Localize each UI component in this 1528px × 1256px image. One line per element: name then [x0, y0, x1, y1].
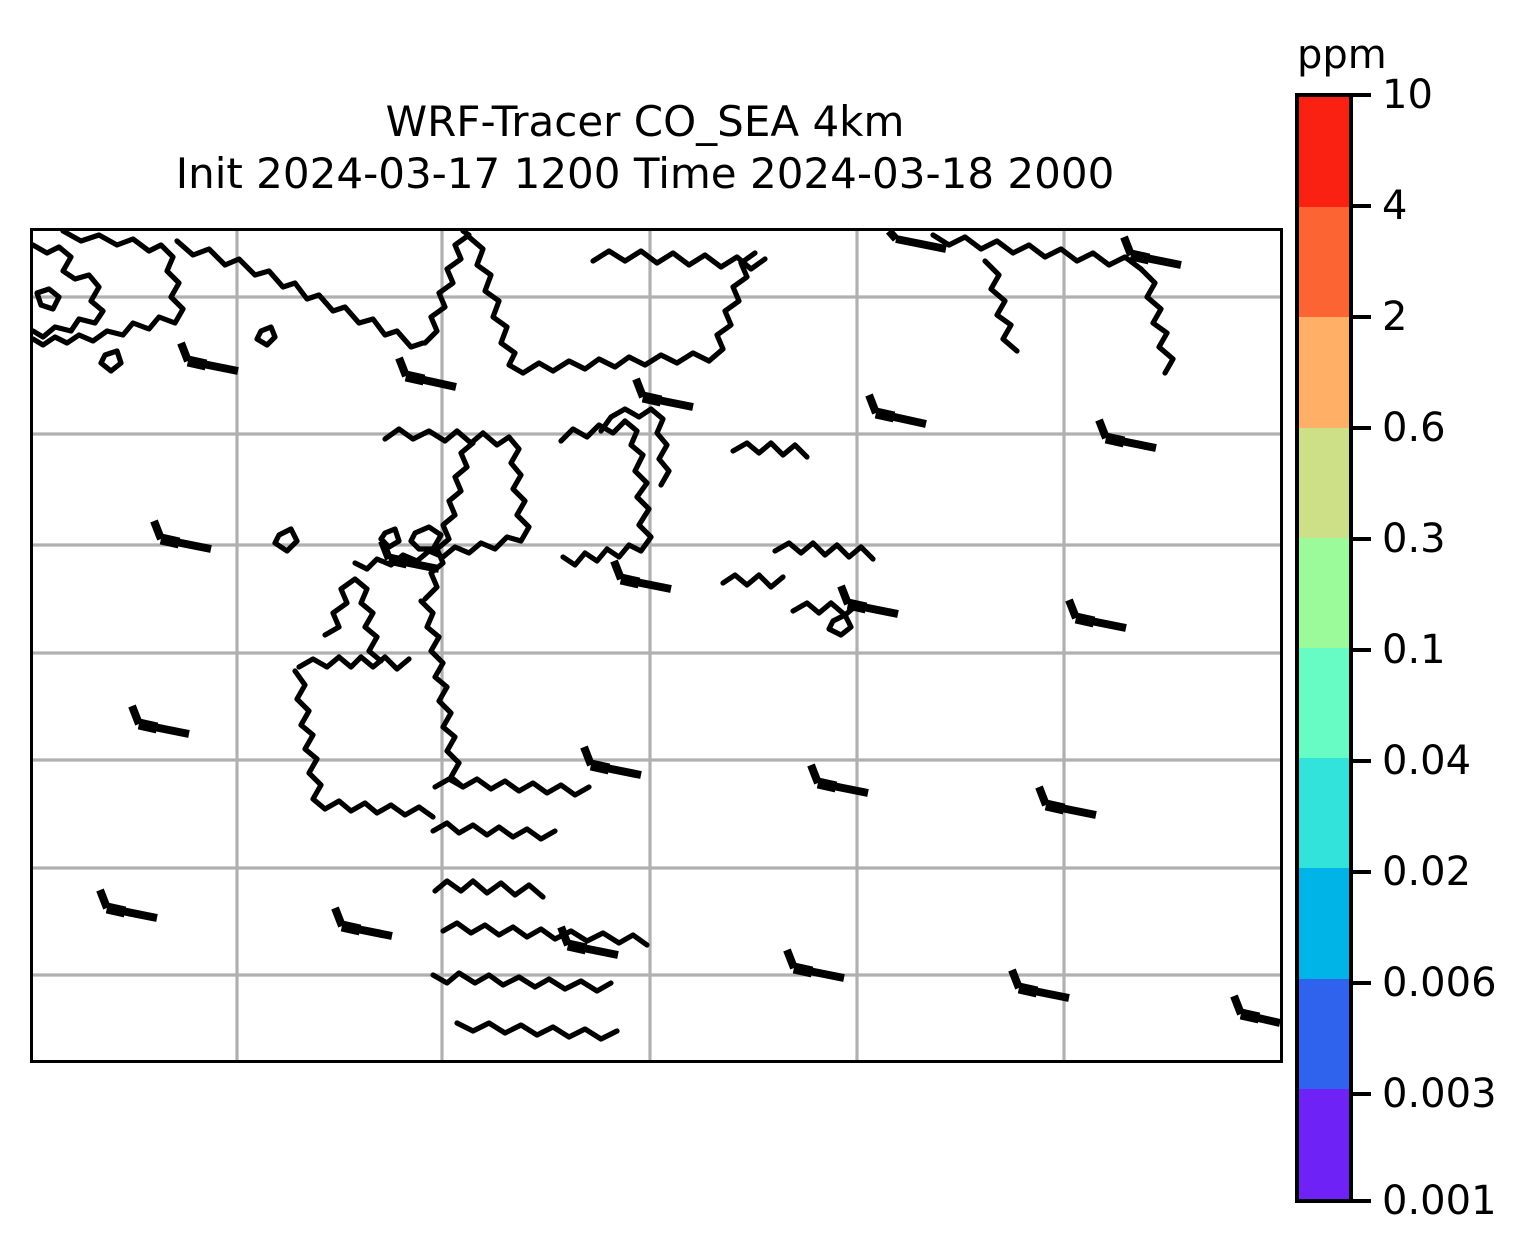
colorbar-tick — [1353, 759, 1371, 763]
colorbar-band — [1299, 97, 1349, 207]
colorbar-band — [1299, 868, 1349, 978]
map-plot-area[interactable] — [30, 228, 1283, 1063]
colorbar-tick — [1353, 1199, 1371, 1203]
colorbar-tick-label: 0.04 — [1382, 738, 1471, 784]
colorbar-unit-label: ppm — [1297, 32, 1387, 78]
wind-barb-overlay — [100, 231, 1280, 1023]
colorbar-tick — [1353, 981, 1371, 985]
colorbar-tick-label: 10 — [1382, 72, 1433, 118]
coastline-overlay — [33, 231, 1173, 1039]
colorbar-band — [1299, 758, 1349, 868]
chart-title: WRF-Tracer CO_SEA 4km Init 2024-03-17 12… — [0, 96, 1290, 200]
colorbar-tick — [1353, 1092, 1371, 1096]
colorbar-tick — [1353, 537, 1371, 541]
colorbar-tick — [1353, 648, 1371, 652]
colorbar-tick — [1353, 426, 1371, 430]
colorbar-tick-label: 0.3 — [1382, 516, 1446, 562]
colorbar-tick-label: 0.6 — [1382, 405, 1446, 451]
colorbar-tick-label: 2 — [1382, 294, 1407, 340]
colorbar-tick-label: 4 — [1382, 183, 1407, 229]
colorbar-tick-label: 0.001 — [1382, 1178, 1497, 1224]
colorbar-band — [1299, 207, 1349, 317]
colorbar-tick-label: 0.1 — [1382, 627, 1446, 673]
colorbar-band — [1299, 979, 1349, 1089]
colorbar-tick-label: 0.006 — [1382, 960, 1497, 1006]
colorbar-tick-label: 0.02 — [1382, 849, 1471, 895]
colorbar-tick — [1353, 315, 1371, 319]
colorbar-band — [1299, 648, 1349, 758]
colorbar-tick — [1353, 204, 1371, 208]
colorbar-band — [1299, 317, 1349, 427]
colorbar[interactable] — [1295, 93, 1353, 1203]
colorbar-tick — [1353, 870, 1371, 874]
colorbar-band — [1299, 538, 1349, 648]
colorbar-tick — [1353, 93, 1371, 97]
colorbar-band — [1299, 1089, 1349, 1199]
title-line-primary: WRF-Tracer CO_SEA 4km — [0, 96, 1290, 148]
colorbar-tick-label: 0.003 — [1382, 1071, 1497, 1117]
map-canvas — [33, 231, 1280, 1060]
title-line-secondary: Init 2024-03-17 1200 Time 2024-03-18 200… — [0, 148, 1290, 200]
colorbar-band — [1299, 428, 1349, 538]
